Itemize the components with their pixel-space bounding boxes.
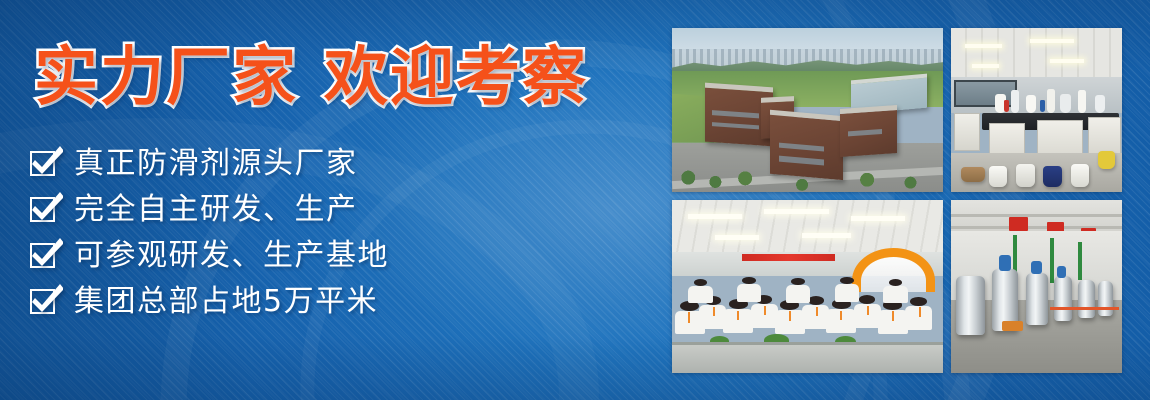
list-item-label: 集团总部占地5万平米 [74,285,378,319]
list-item: 集团总部占地5万平米 [30,282,389,321]
list-item-label: 真正防滑剂源头厂家 [74,147,358,181]
checkbox-checked-icon [30,241,60,271]
list-item-label: 完全自主研发、生产 [74,193,358,227]
copy-column: 实力厂家欢迎考察 真正防滑剂源头厂家 完全自 [0,0,660,400]
headline-part-1: 实力厂家 [34,41,298,115]
list-item: 真正防滑剂源头厂家 [30,144,389,183]
photo-campus-aerial [672,28,943,192]
photo-office-team [672,200,943,373]
list-item-label: 可参观研发、生产基地 [74,239,389,273]
photo-laboratory [951,28,1122,192]
checkbox-checked-icon [30,287,60,317]
photo-grid [672,28,1122,375]
list-item: 可参观研发、生产基地 [30,236,389,275]
benefits-list: 真正防滑剂源头厂家 完全自主研发、生产 可参观研发、 [30,144,389,321]
promo-banner: 实力厂家欢迎考察 真正防滑剂源头厂家 完全自 [0,0,1150,400]
checkbox-checked-icon [30,195,60,225]
checkbox-checked-icon [30,149,60,179]
list-item: 完全自主研发、生产 [30,190,389,229]
banner-headline: 实力厂家欢迎考察 [34,46,588,110]
headline-part-2: 欢迎考察 [324,41,588,115]
photo-factory-tanks [951,200,1122,373]
